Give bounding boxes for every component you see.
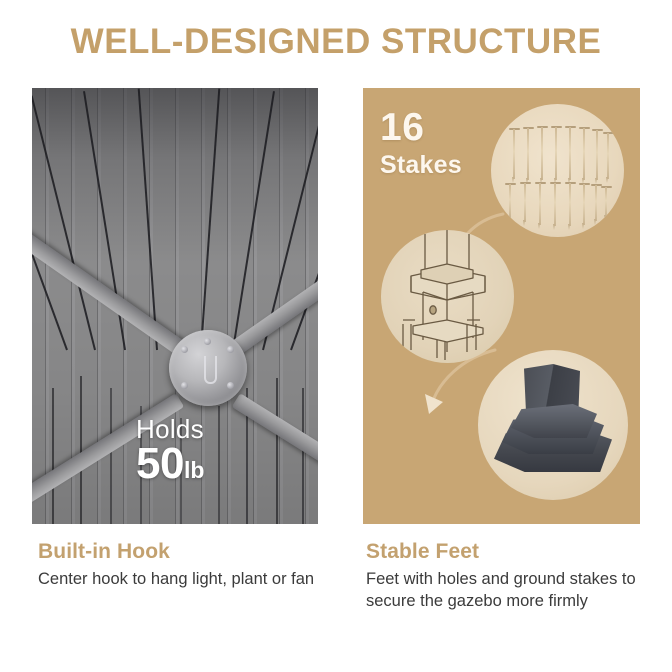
foot-base-tier-inner	[511, 404, 597, 438]
stake	[607, 133, 609, 179]
stake	[569, 183, 571, 226]
stakes-count-label: Stakes	[380, 153, 462, 178]
foot-line-drawing-circle	[381, 230, 514, 363]
stake	[554, 183, 556, 226]
caption-heading: Stable Feet	[366, 540, 656, 564]
stake	[555, 127, 557, 180]
stable-feet-illustration-panel: 16 Stakes	[363, 88, 640, 524]
stake-tip	[568, 224, 570, 230]
hub-bolt	[227, 382, 234, 389]
stake-tip	[606, 177, 608, 183]
center-hook-hub-icon	[169, 330, 247, 406]
holds-amount: 50	[136, 439, 184, 488]
stake	[605, 187, 607, 217]
page-title: WELL-DESIGNED STRUCTURE	[0, 22, 672, 62]
holds-value-row: 50lb	[136, 442, 204, 486]
stake	[541, 127, 543, 180]
stake-tip	[508, 216, 510, 222]
stake	[524, 183, 526, 222]
stake	[595, 185, 597, 221]
stake-tip	[523, 220, 525, 226]
roof-seam	[80, 376, 82, 524]
holds-capacity-overlay: Holds 50lb	[136, 416, 204, 486]
foot-photo-circle	[478, 350, 628, 500]
post-foot-line-drawing-icon	[381, 230, 514, 363]
hub-bolt	[181, 382, 188, 389]
stake	[569, 127, 571, 180]
stake-tip	[553, 224, 555, 230]
stakes-count-value: 16	[380, 108, 462, 147]
stakes-count-badge: 16 Stakes	[380, 108, 462, 178]
hub-bolt	[227, 346, 234, 353]
hub-bolt	[181, 346, 188, 353]
stake	[583, 128, 585, 180]
stake	[513, 129, 515, 179]
roof-seam	[276, 378, 278, 524]
roof-seam	[218, 406, 220, 524]
stake	[596, 130, 598, 180]
roof-seam	[302, 388, 304, 524]
stakes-bundle-circle	[491, 104, 624, 237]
roof-seam	[110, 388, 112, 524]
holds-unit: lb	[184, 457, 204, 483]
caption-body: Feet with holes and ground stakes to sec…	[366, 569, 656, 613]
stake-tip	[538, 223, 540, 229]
hub-bolt	[204, 338, 211, 345]
stake	[527, 128, 529, 180]
stake	[583, 184, 585, 225]
stable-foot-photo	[478, 350, 628, 500]
stake-tip	[594, 219, 596, 225]
stake	[539, 183, 541, 225]
caption-built-in-hook: Built-in Hook Center hook to hang light,…	[38, 540, 328, 591]
caption-heading: Built-in Hook	[38, 540, 328, 564]
stake-tip	[582, 223, 584, 229]
stake-tip	[604, 215, 606, 221]
gazebo-roof-interior-photo: Holds 50lb	[32, 88, 318, 524]
stake	[509, 184, 511, 218]
caption-stable-feet: Stable Feet Feet with holes and ground s…	[366, 540, 656, 613]
caption-body: Center hook to hang light, plant or fan	[38, 569, 328, 591]
roof-seam	[52, 388, 54, 524]
